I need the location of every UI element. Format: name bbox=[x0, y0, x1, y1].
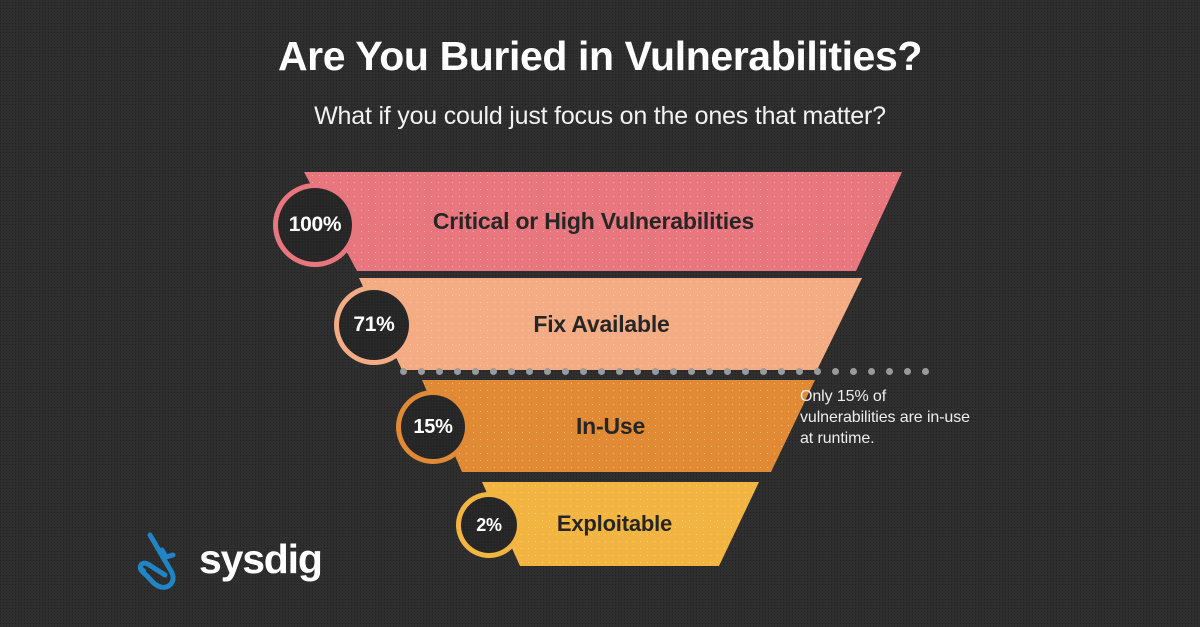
divider-dot bbox=[670, 368, 677, 375]
divider-dot bbox=[850, 368, 857, 375]
funnel-segment-shape bbox=[281, 172, 902, 271]
divider-dot bbox=[400, 368, 407, 375]
divider-dot bbox=[760, 368, 767, 375]
divider-dot bbox=[706, 368, 713, 375]
sysdig-logo[interactable]: sysdig bbox=[136, 530, 322, 592]
divider-dot bbox=[490, 368, 497, 375]
divider-dot bbox=[814, 368, 821, 375]
divider-dot bbox=[688, 368, 695, 375]
funnel-segment-fix-available[interactable]: Fix Available bbox=[337, 278, 862, 370]
divider-dot bbox=[454, 368, 461, 375]
divider-dot bbox=[508, 368, 515, 375]
divider-dot bbox=[922, 368, 929, 375]
divider-dot bbox=[886, 368, 893, 375]
funnel-segment-critical-or-high-vulnerabilities[interactable]: Critical or High Vulnerabilities bbox=[281, 172, 902, 271]
funnel-percent-badge-fix-available[interactable]: 71% bbox=[334, 285, 414, 365]
divider-dot bbox=[580, 368, 587, 375]
in-use-divider-dotted-line bbox=[400, 368, 937, 375]
funnel-percent-value: 71% bbox=[339, 290, 409, 360]
divider-dot bbox=[652, 368, 659, 375]
divider-dot bbox=[904, 368, 911, 375]
divider-dot bbox=[418, 368, 425, 375]
divider-dot bbox=[832, 368, 839, 375]
sysdig-logo-mark bbox=[136, 530, 190, 592]
divider-dot bbox=[526, 368, 533, 375]
divider-dot bbox=[724, 368, 731, 375]
divider-dot bbox=[544, 368, 551, 375]
funnel-percent-value: 100% bbox=[278, 188, 352, 262]
funnel-percent-badge-critical-or-high-vulnerabilities[interactable]: 100% bbox=[273, 183, 357, 267]
infographic-canvas: Are You Buried in Vulnerabilities? What … bbox=[0, 0, 1200, 627]
funnel-percent-value: 15% bbox=[401, 395, 465, 459]
divider-dot bbox=[742, 368, 749, 375]
funnel-percent-badge-exploitable[interactable]: 2% bbox=[456, 492, 522, 558]
divider-dot bbox=[562, 368, 569, 375]
funnel-segment-shape bbox=[337, 278, 862, 370]
divider-dot bbox=[868, 368, 875, 375]
divider-dot bbox=[616, 368, 623, 375]
funnel-percent-value: 2% bbox=[461, 497, 517, 553]
divider-dot bbox=[598, 368, 605, 375]
divider-dot bbox=[472, 368, 479, 375]
divider-dot bbox=[796, 368, 803, 375]
sysdig-wordmark: sysdig bbox=[199, 539, 322, 584]
divider-dot bbox=[778, 368, 785, 375]
in-use-annotation: Only 15% of vulnerabilities are in-use a… bbox=[800, 386, 980, 449]
divider-dot bbox=[436, 368, 443, 375]
funnel-percent-badge-in-use[interactable]: 15% bbox=[396, 390, 470, 464]
divider-dot bbox=[634, 368, 641, 375]
